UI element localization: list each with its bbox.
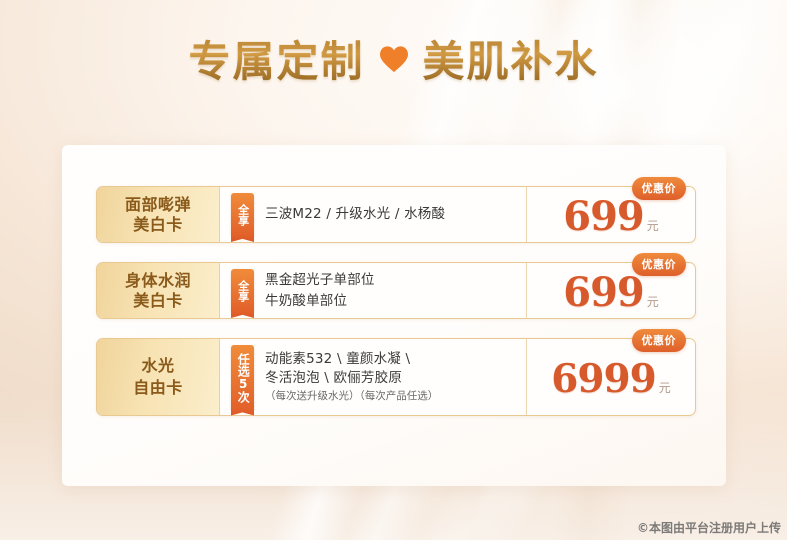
offer-item-line: 黑金超光子单部位 [265,270,375,290]
offer-price-cell: 优惠价 699 元 [527,187,695,242]
offer-badge: 全享 [231,193,254,236]
offer-content-cell: 全享 黑金超光子单部位 牛奶酸单部位 [220,263,527,318]
page-title: 专属定制 美肌补水 [0,28,787,89]
watermark-text: ©本图由平台注册用户上传 [637,519,781,536]
offer-price-value: 699 [563,197,644,237]
offer-price-value: 6999 [551,360,656,399]
offer-badge: 任选5次 [231,345,254,410]
offer-row[interactable]: 身体水润 美白卡 全享 黑金超光子单部位 牛奶酸单部位 优惠价 699 元 [96,262,696,319]
offer-price-unit: 元 [647,293,659,310]
offer-price-unit: 元 [647,217,659,234]
offer-note: （每次送升级水光）（每次产品任选） [265,389,438,404]
offer-card-name-line2: 美白卡 [125,215,191,235]
offer-price-value: 699 [563,273,644,313]
offer-item-line: 牛奶酸单部位 [265,291,375,311]
discount-tag: 优惠价 [632,329,687,352]
offer-item-line: 冬活泡泡 \ 欧俪芳胶原 [265,369,438,388]
offer-content-cell: 任选5次 动能素532 \ 童颜水凝 \ 冬活泡泡 \ 欧俪芳胶原 （每次送升级… [220,339,527,415]
heart-icon [379,45,409,73]
offer-price-unit: 元 [659,379,671,396]
offer-card-name-cell: 水光 自由卡 [97,339,220,415]
offer-items: 黑金超光子单部位 牛奶酸单部位 [265,270,375,311]
offer-card-name-cell: 面部嘭弹 美白卡 [97,187,220,242]
offer-row[interactable]: 水光 自由卡 任选5次 动能素532 \ 童颜水凝 \ 冬活泡泡 \ 欧俪芳胶原… [96,338,696,416]
offer-price-cell: 优惠价 699 元 [527,263,695,318]
offer-item-line: 动能素532 \ 童颜水凝 \ [265,350,438,369]
offer-card-name-line1: 水光 [133,355,183,377]
offer-row[interactable]: 面部嘭弹 美白卡 全享 三波M22 / 升级水光 / 水杨酸 优惠价 699 元 [96,186,696,243]
offer-items: 动能素532 \ 童颜水凝 \ 冬活泡泡 \ 欧俪芳胶原 （每次送升级水光）（每… [265,350,438,404]
offer-card-name-line1: 面部嘭弹 [125,195,191,215]
offer-card-name-line2: 自由卡 [133,377,183,399]
offer-card-name-line1: 身体水润 [125,271,191,291]
title-right-text: 美肌补水 [423,28,599,89]
title-left-text: 专属定制 [188,28,364,89]
offer-items: 三波M22 / 升级水光 / 水杨酸 [265,204,445,224]
offer-badge: 全享 [231,269,254,312]
offer-item-line: 三波M22 / 升级水光 / 水杨酸 [265,204,445,224]
offer-content-cell: 全享 三波M22 / 升级水光 / 水杨酸 [220,187,527,242]
offer-price-cell: 优惠价 6999 元 [527,339,695,415]
offer-card-name-cell: 身体水润 美白卡 [97,263,220,318]
offer-list: 面部嘭弹 美白卡 全享 三波M22 / 升级水光 / 水杨酸 优惠价 699 元… [96,186,696,416]
offer-card-name-line2: 美白卡 [125,291,191,311]
